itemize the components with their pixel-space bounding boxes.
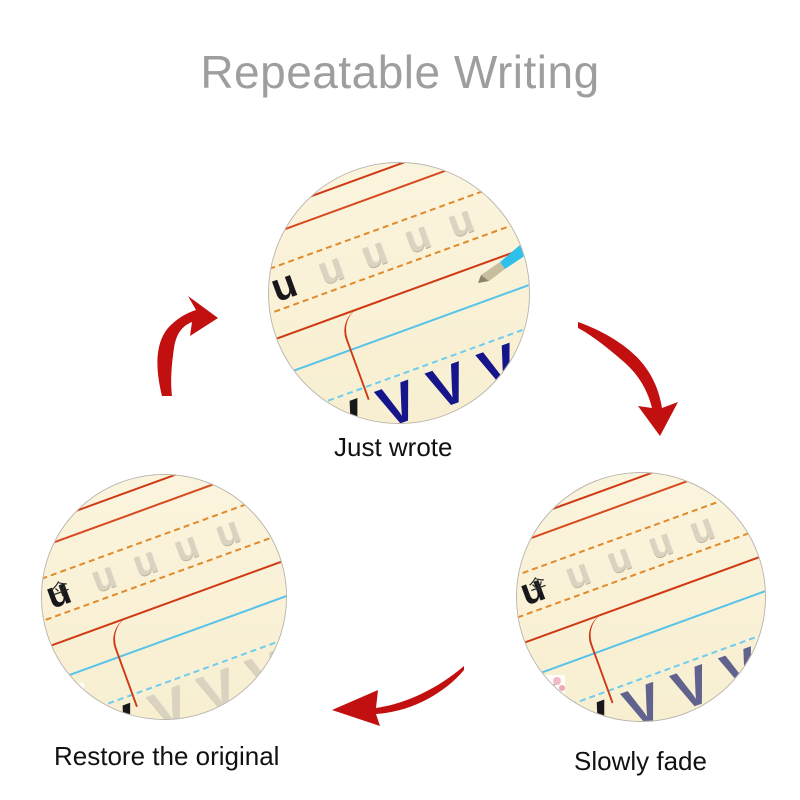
groove-letter-u: u xyxy=(128,541,163,585)
infographic-canvas: Repeatable Writing u u u u u xyxy=(0,0,800,800)
groove-letter-u: u xyxy=(442,199,479,245)
flower-decoration-icon xyxy=(56,677,102,711)
groove-letter-u: u xyxy=(169,526,204,570)
faded-letter-v: V xyxy=(715,639,766,702)
groove-letter-u: u xyxy=(643,522,678,566)
step-image-restore-the-original: u u u u u V V V V 伞 xyxy=(41,474,287,720)
groove-letter-u: u xyxy=(399,214,436,260)
arrow-slowly-fade-to-restore xyxy=(330,660,466,732)
groove-letter-u: u xyxy=(560,552,595,596)
step-image-slowly-fade: u u u u u V V V V V V xyxy=(516,472,766,722)
groove-letter-v: V xyxy=(241,642,287,705)
printed-letter-u: u xyxy=(268,263,302,309)
step-image-just-wrote: u u u u u V V V V xyxy=(268,162,530,424)
caption-just-wrote: Just wrote xyxy=(334,432,453,463)
groove-letter-u: u xyxy=(210,510,245,554)
caption-slowly-fade: Slowly fade xyxy=(574,746,707,777)
arrow-just-wrote-to-slowly-fade xyxy=(576,318,702,444)
groove-row-u: u u u u u xyxy=(516,498,766,651)
groove-letter-u: u xyxy=(684,507,719,551)
groove-row-u: u u u u u xyxy=(41,503,287,653)
arrow-restore-to-just-wrote xyxy=(132,288,244,400)
groove-letter-u: u xyxy=(313,246,350,292)
groove-letter-u: u xyxy=(86,556,121,600)
groove-letter-u: u xyxy=(356,230,393,276)
page-ruling-top: u u u u u V V V V xyxy=(268,162,530,424)
groove-letter-u: u xyxy=(602,537,637,581)
page-title: Repeatable Writing xyxy=(0,45,800,99)
pen-icon xyxy=(475,235,530,293)
written-letter-v: V xyxy=(472,335,526,400)
groove-letter-v: V xyxy=(192,660,244,720)
caption-restore-the-original: Restore the original xyxy=(54,741,279,772)
written-letter-v: V xyxy=(421,353,475,418)
flower-decoration-icon xyxy=(535,671,581,705)
faded-letter-v: V xyxy=(666,656,718,719)
